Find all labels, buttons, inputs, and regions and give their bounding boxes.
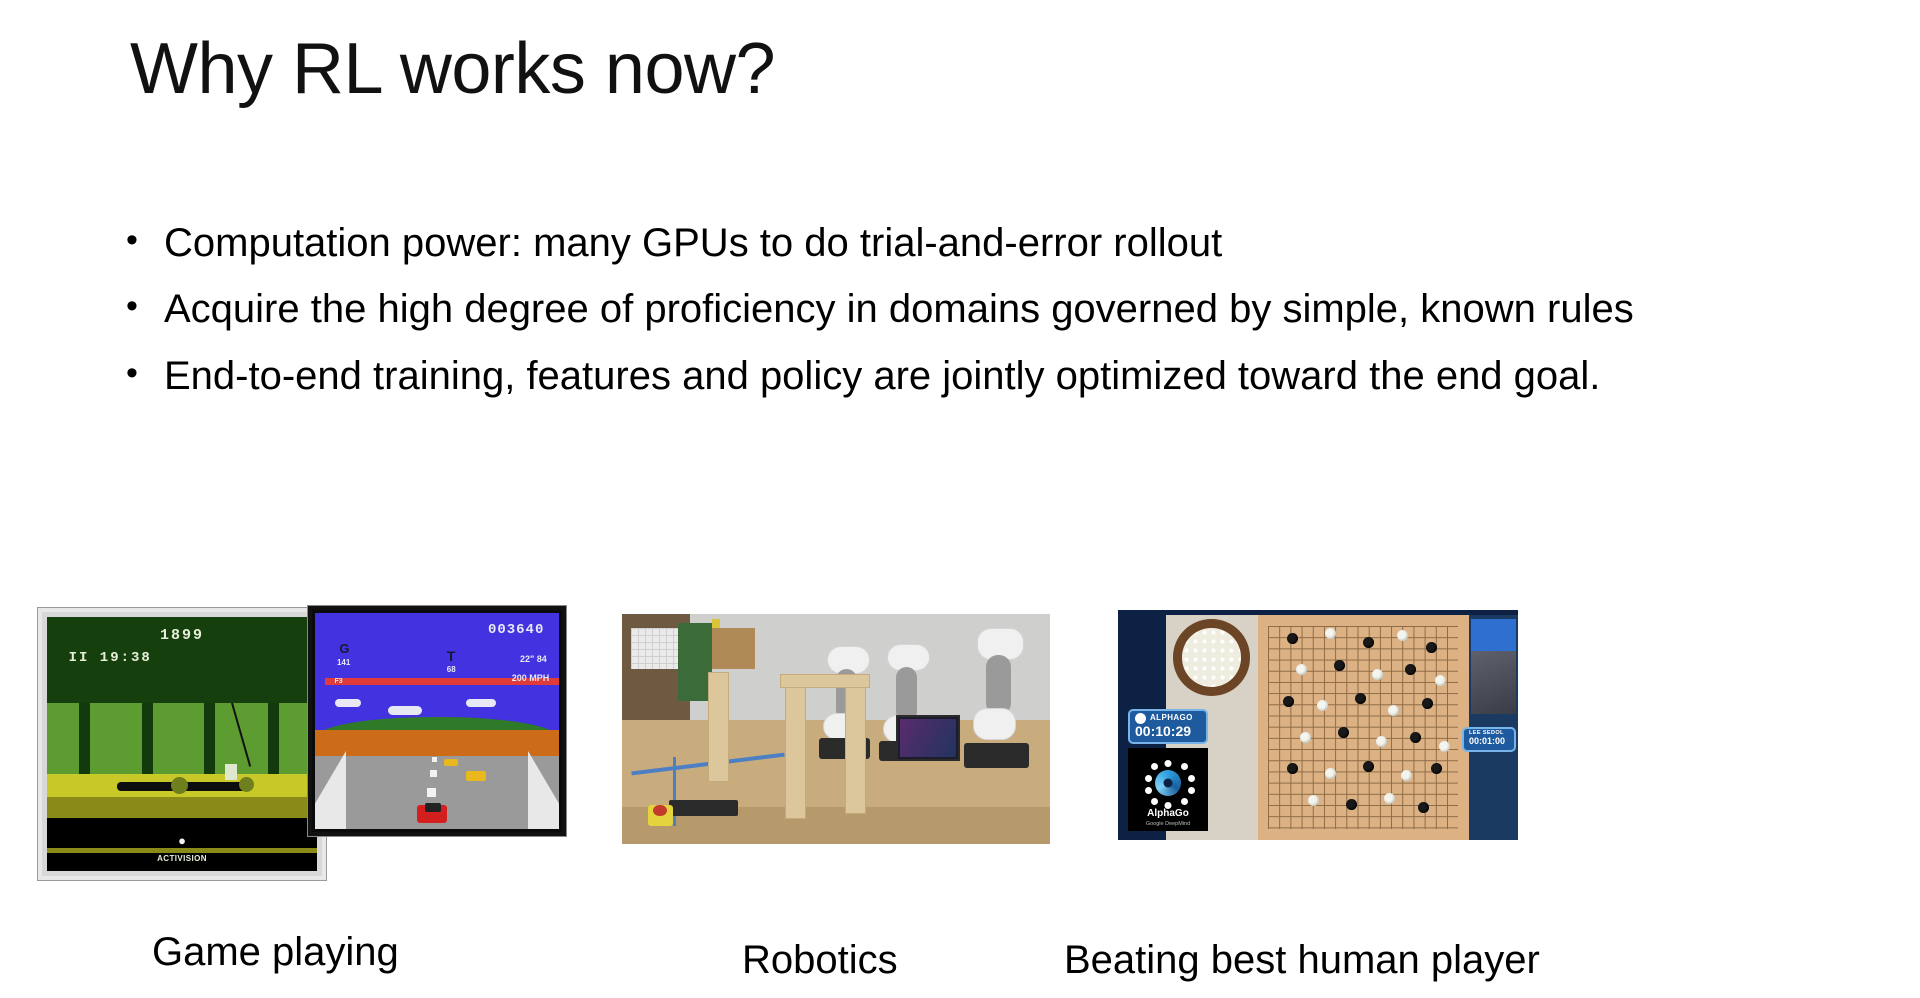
list-item: • End-to-end training, features and poli… — [126, 351, 1786, 401]
lab-monitor-screen — [900, 719, 956, 757]
pitfall-timer: II 19:38 — [69, 650, 152, 666]
caption-alphago: Beating best human player — [1064, 938, 1540, 983]
caption-robotics: Robotics — [742, 938, 898, 983]
enduro-cloud — [335, 699, 361, 707]
pitfall-tree-trunk — [268, 703, 279, 774]
pitfall-publisher-logo: ACTIVISION — [47, 854, 317, 863]
robot-arm-joint — [986, 655, 1012, 715]
go-stone-bowl — [1173, 619, 1250, 696]
enduro-lap-time: 22" 84 — [520, 654, 547, 664]
figure-strip: 1899 II 19:38 ● ACTIVISION — [0, 596, 1920, 926]
enduro-score: 003640 — [488, 622, 544, 638]
pitfall-rolling-log — [239, 777, 254, 792]
pitfall-tree-trunk — [204, 703, 215, 774]
wooden-post — [845, 681, 866, 814]
lee-sedol-time-remaining: 00:01:00 — [1469, 737, 1509, 746]
enduro-opponent-car — [466, 771, 486, 781]
lee-sedol-clock: LEE SEDOL 00:01:00 — [1462, 727, 1516, 751]
atari-pitfall-screenshot: 1899 II 19:38 ● ACTIVISION — [38, 608, 326, 880]
enduro-opponent-car — [444, 759, 458, 766]
alphago-logo-panel: AlphaGo Google DeepMind — [1128, 748, 1208, 831]
enduro-road-edge-right — [528, 751, 559, 829]
enduro-left-label-2: F3 — [335, 678, 343, 685]
alphago-broadcast-screenshot: ALPHAGO 00:10:29 LEE SEDOL 00:01:00 — [1118, 610, 1518, 840]
pitfall-tree-trunk — [142, 703, 153, 774]
list-item: • Acquire the high degree of proficiency… — [126, 284, 1786, 334]
enduro-lane-dash — [432, 757, 437, 762]
bullet-text: End-to-end training, features and policy… — [164, 351, 1764, 401]
enduro-flag-icon: G — [339, 641, 349, 656]
enduro-dirt — [315, 730, 559, 756]
alphago-brand-sub: Google DeepMind — [1128, 821, 1208, 827]
pitfall-screen: 1899 II 19:38 ● ACTIVISION — [47, 617, 317, 871]
enduro-speed: 200 MPH — [512, 673, 550, 683]
go-board — [1258, 615, 1469, 840]
alphago-clock: ALPHAGO 00:10:29 — [1128, 709, 1208, 744]
robotics-photo — [622, 614, 1050, 844]
page-title: Why RL works now? — [130, 28, 775, 110]
bullet-text: Acquire the high degree of proficiency i… — [164, 284, 1764, 334]
pitfall-score: 1899 — [47, 627, 317, 644]
enduro-road-edge-left — [315, 751, 346, 829]
enduro-cloud — [466, 699, 496, 707]
alphago-time-remaining: 00:10:29 — [1135, 724, 1201, 739]
bullet-list: • Computation power: many GPUs to do tri… — [126, 218, 1786, 417]
alphago-brand-name: AlphaGo — [1128, 808, 1208, 819]
enduro-mid-value: 68 — [447, 665, 456, 674]
go-board-grid — [1268, 626, 1458, 829]
lab-grid-panel — [631, 628, 678, 669]
pitfall-ground-shadow — [47, 797, 317, 817]
bullet-marker-icon: • — [126, 218, 164, 264]
bullet-marker-icon: • — [126, 284, 164, 330]
pitfall-tree-trunk — [79, 703, 90, 774]
broadcast-blue-banner — [1471, 619, 1517, 651]
list-item: • Computation power: many GPUs to do tri… — [126, 218, 1786, 268]
enduro-lane-dash — [430, 770, 437, 777]
alphago-player-name: ALPHAGO — [1150, 714, 1193, 722]
lab-cardboard-box — [712, 628, 755, 669]
enduro-cloud — [388, 706, 422, 715]
alphago-spiral-icon — [1155, 770, 1181, 796]
robot-arm-link — [973, 708, 1016, 740]
enduro-mid-label: T — [447, 648, 456, 664]
go-white-stones — [1182, 628, 1241, 686]
treasure-icon: ● — [47, 833, 317, 848]
wooden-crossbeam — [780, 674, 870, 688]
robot-base — [964, 743, 1028, 768]
keyboard — [669, 800, 737, 816]
wooden-post — [708, 672, 729, 782]
atari-enduro-screenshot: 003640 G 141 F3 T 68 22" 84 200 MPH — [308, 606, 566, 836]
pitfall-hud-bar — [47, 848, 317, 853]
enduro-left-label-1: 141 — [337, 658, 350, 667]
enduro-player-car-top — [425, 803, 441, 812]
robot-arm-joint — [896, 667, 917, 722]
enduro-lane-dash — [427, 788, 436, 797]
wooden-post — [785, 681, 806, 819]
bullet-text: Computation power: many GPUs to do trial… — [164, 218, 1764, 268]
lab-monitor — [896, 715, 960, 761]
bullet-marker-icon: • — [126, 351, 164, 397]
enduro-screen: 003640 G 141 F3 T 68 22" 84 200 MPH — [315, 613, 559, 829]
pitfall-player-sprite — [225, 764, 237, 780]
slide-canvas: Why RL works now? • Computation power: m… — [0, 0, 1920, 998]
caption-game-playing: Game playing — [152, 930, 399, 975]
